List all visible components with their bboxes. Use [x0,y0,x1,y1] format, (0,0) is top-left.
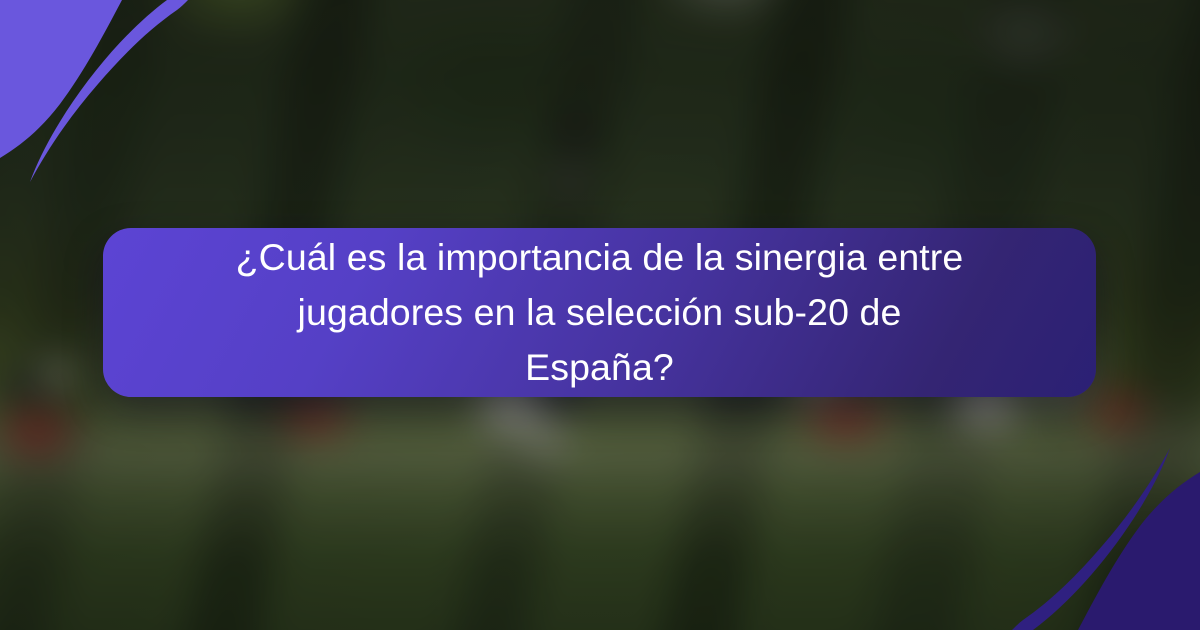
question-title: ¿Cuál es la importancia de la sinergia e… [220,230,980,394]
question-card: ¿Cuál es la importancia de la sinergia e… [103,228,1096,397]
share-card-canvas: ¿Cuál es la importancia de la sinergia e… [0,0,1200,630]
bottom-right-indigo-swoosh [1078,472,1200,630]
